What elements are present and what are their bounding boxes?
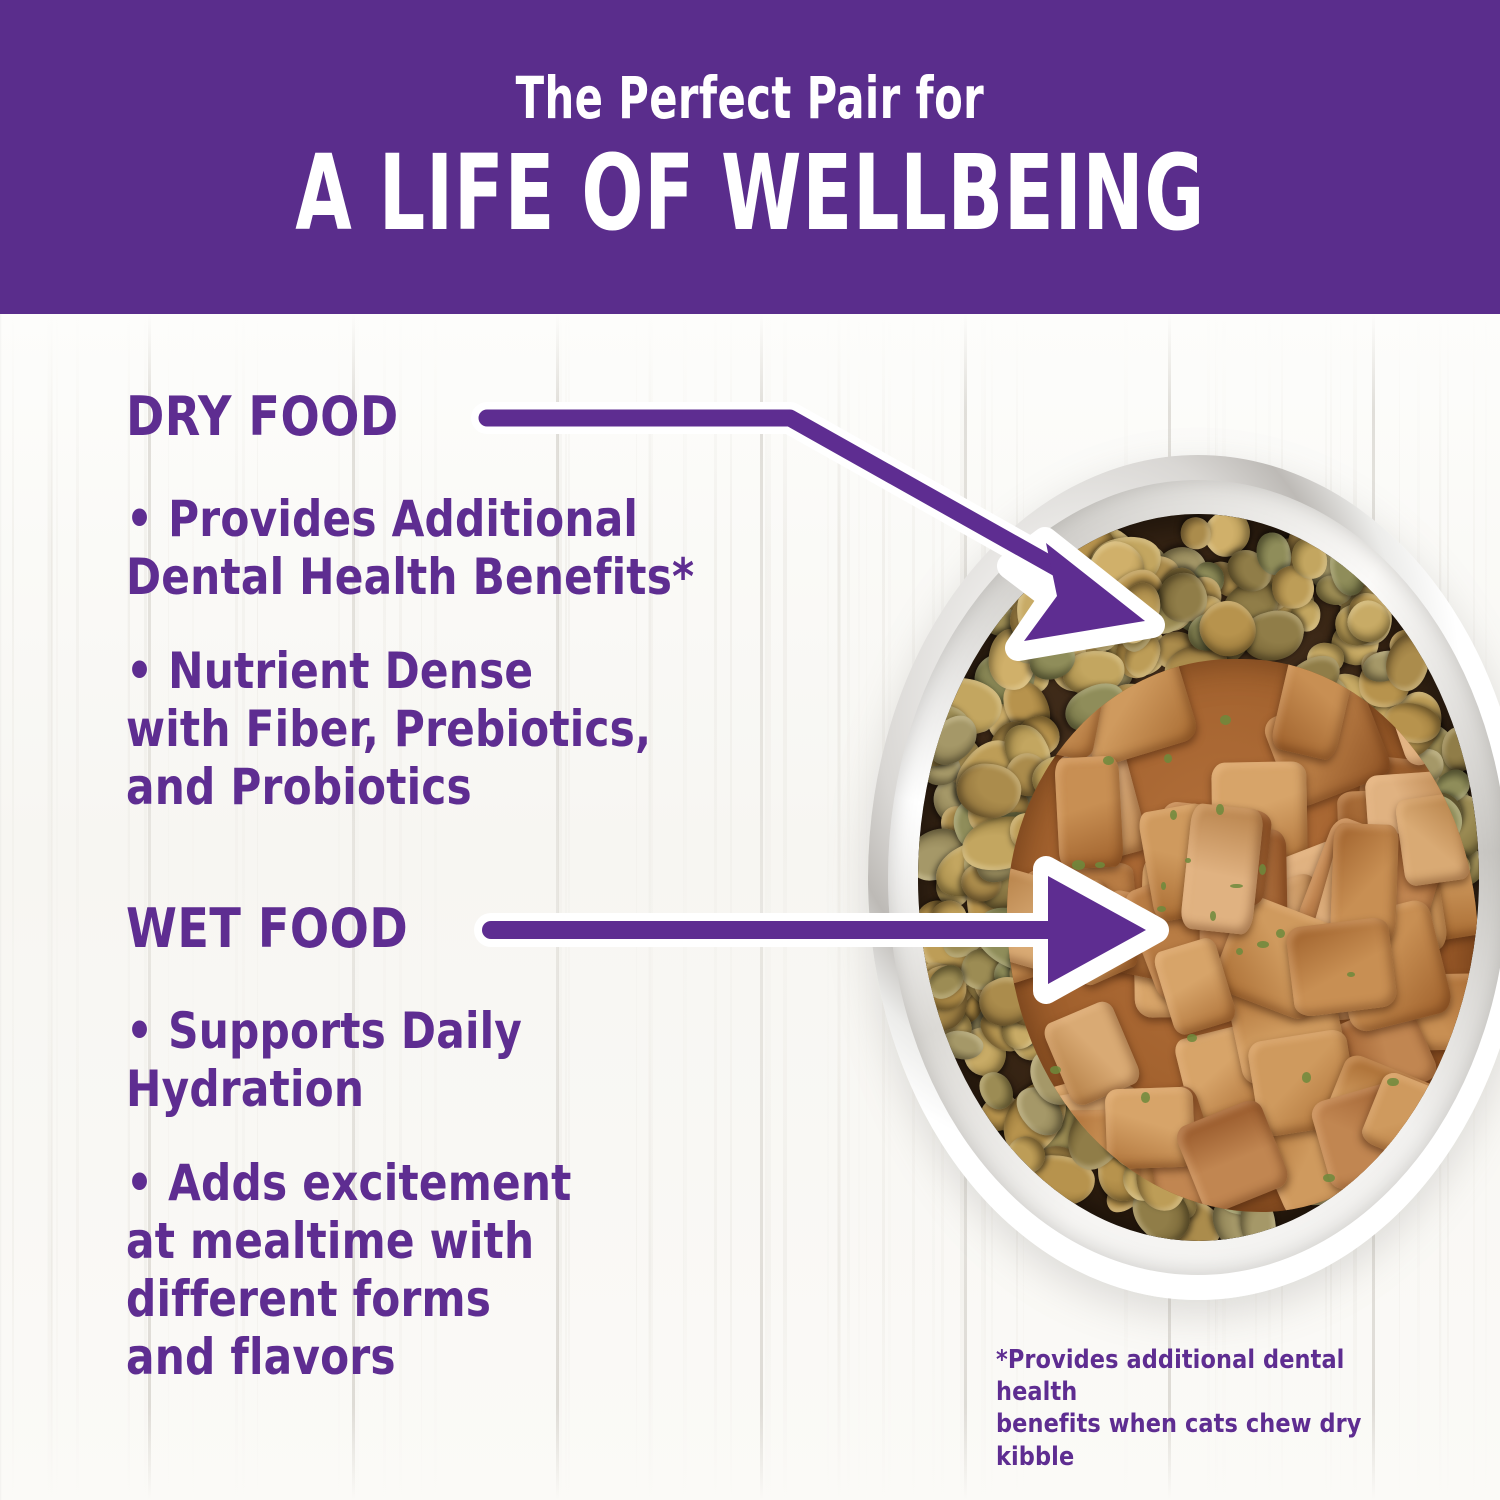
wet-food-chunk — [1394, 791, 1472, 886]
wood-grain-line — [47, 314, 48, 1500]
herb-fleck — [1409, 1162, 1416, 1169]
bullet-line: and flavors — [126, 1328, 822, 1386]
herb-fleck — [1230, 884, 1243, 888]
list-item: • Provides Additional Dental Health Bene… — [126, 490, 822, 606]
herb-fleck — [1187, 1034, 1197, 1042]
bullet-line: Hydration — [126, 1060, 822, 1118]
header-subtitle: The Perfect Pair for — [516, 69, 985, 127]
wet-food-chunk — [1180, 803, 1265, 936]
section-heading-dry-food: DRY FOOD — [126, 390, 829, 444]
herb-fleck — [1157, 906, 1166, 912]
bullet-line: Dental Health Benefits* — [126, 548, 822, 606]
wet-food-chunk — [1285, 916, 1398, 1018]
wood-grain-line — [48, 314, 52, 1500]
bullet-line: at mealtime with — [126, 1212, 822, 1270]
wood-grain-line — [12, 314, 14, 1500]
bullet-line: • Supports Daily — [126, 1002, 822, 1060]
herb-fleck — [1161, 882, 1166, 890]
herb-fleck — [1072, 860, 1085, 869]
bowl-interior — [918, 514, 1479, 1241]
benefits-column: DRY FOOD • Provides Additional Dental He… — [126, 390, 866, 1386]
bullet-line: • Nutrient Dense — [126, 642, 822, 700]
footnote-line-1: *Provides additional dental health — [996, 1344, 1399, 1408]
list-item: • Supports Daily Hydration — [126, 1002, 822, 1118]
list-item: • Nutrient Dense with Fiber, Prebiotics,… — [126, 642, 822, 816]
herb-fleck — [1103, 756, 1114, 765]
wet-food-layer — [1007, 659, 1478, 1211]
wood-grain-line — [76, 314, 79, 1500]
herb-fleck — [1210, 911, 1216, 921]
bullet-line: and Probiotics — [126, 758, 822, 816]
herb-fleck — [1164, 754, 1172, 763]
bullet-line: with Fiber, Prebiotics, — [126, 700, 822, 758]
header-title: A LIFE OF WELLBEING — [295, 141, 1205, 245]
footnote-line-2: benefits when cats chew dry kibble — [996, 1408, 1399, 1472]
footnote: *Provides additional dental health benef… — [996, 1344, 1399, 1473]
herb-fleck — [1185, 858, 1191, 863]
herb-fleck — [1302, 1072, 1311, 1082]
wood-grain-line — [866, 314, 867, 1500]
list-item: • Adds excitement at mealtime with diffe… — [126, 1154, 822, 1386]
herb-fleck — [1095, 862, 1105, 869]
wet-food-chunk — [1054, 756, 1124, 870]
header-banner: The Perfect Pair for A LIFE OF WELLBEING — [0, 0, 1500, 314]
section-heading-wet-food: WET FOOD — [126, 902, 829, 956]
bullet-line: different forms — [126, 1270, 822, 1328]
pet-food-bowl-image — [868, 455, 1500, 1300]
wood-grain-line — [56, 314, 58, 1500]
herb-fleck — [1347, 972, 1355, 977]
herb-fleck — [1387, 1078, 1399, 1087]
bowl-outer-rim — [868, 455, 1500, 1300]
herb-fleck — [1216, 804, 1224, 815]
herb-fleck — [1029, 1089, 1038, 1098]
infographic-canvas: The Perfect Pair for A LIFE OF WELLBEING… — [0, 0, 1500, 1500]
bullet-line: • Adds excitement — [126, 1154, 822, 1212]
herb-fleck — [1141, 1092, 1150, 1102]
herb-fleck — [1220, 715, 1231, 725]
bullet-line: • Provides Additional — [126, 490, 822, 548]
